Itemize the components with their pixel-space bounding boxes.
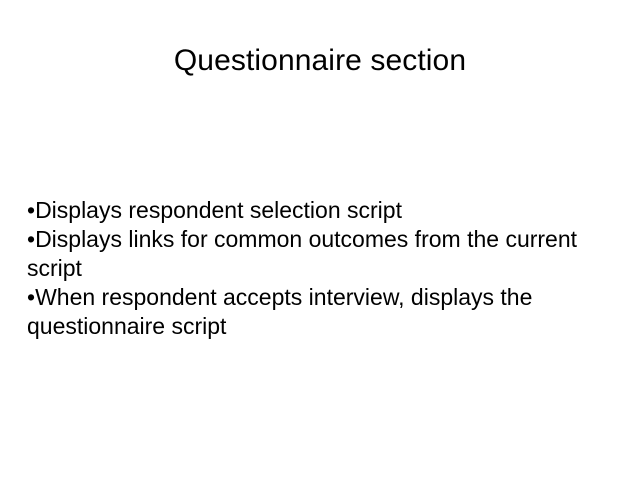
- list-item: •Displays respondent selection script: [27, 196, 613, 225]
- bullet-icon: •: [27, 284, 35, 310]
- list-item-label: When respondent accepts interview, displ…: [27, 284, 532, 339]
- list-item: •When respondent accepts interview, disp…: [27, 283, 613, 341]
- list-item-label: Displays respondent selection script: [35, 197, 402, 223]
- bullet-list: •Displays respondent selection script •D…: [27, 196, 613, 341]
- bullet-icon: •: [27, 197, 35, 223]
- list-item-label: Displays links for common outcomes from …: [27, 226, 577, 281]
- slide-canvas: Questionnaire section •Displays responde…: [0, 0, 640, 480]
- page-title: Questionnaire section: [0, 42, 640, 80]
- list-item: •Displays links for common outcomes from…: [27, 225, 613, 283]
- bullet-icon: •: [27, 226, 35, 252]
